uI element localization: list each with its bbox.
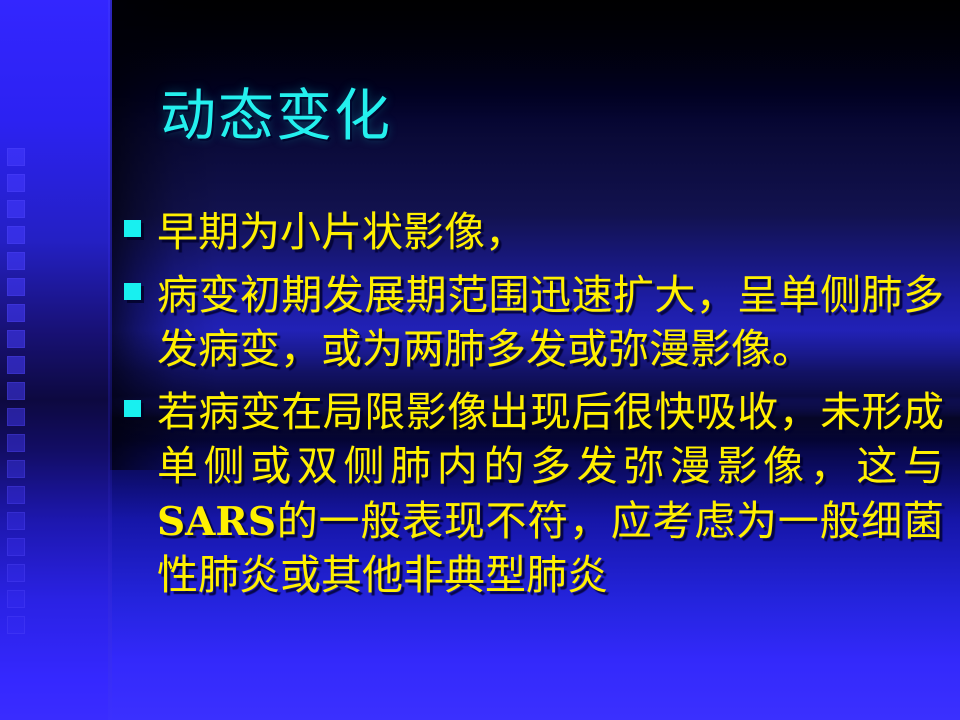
bullet-item-3-text-after: 的一般表现不符，应考虑为一般细菌性肺炎或其他非典型肺炎	[157, 497, 944, 600]
bullet-item-3-latin-term: SARS	[157, 499, 276, 545]
left-decorative-band	[0, 0, 110, 720]
square-bullet-icon	[124, 400, 141, 417]
bullet-item-1: 早期为小片状影像，	[124, 205, 944, 260]
slide-body: 早期为小片状影像， 病变初期发展期范围迅速扩大，呈单侧肺多发病变，或为两肺多发或…	[124, 205, 944, 611]
slide-title: 动态变化	[160, 88, 392, 147]
bullet-item-2: 病变初期发展期范围迅速扩大，呈单侧肺多发病变，或为两肺多发或弥漫影像。	[124, 268, 944, 377]
bullet-item-3-text: 若病变在局限影像出现后很快吸收，未形成单侧或双侧肺内的多发弥漫影像，这与SARS…	[157, 385, 944, 603]
bullet-item-2-text: 病变初期发展期范围迅速扩大，呈单侧肺多发病变，或为两肺多发或弥漫影像。	[157, 268, 944, 377]
bullet-item-3-text-before: 若病变在局限影像出现后很快吸收，未形成单侧或双侧肺内的多发弥漫影像，这与	[157, 388, 944, 491]
left-band-edge-line	[108, 0, 112, 720]
bullet-item-1-text: 早期为小片状影像，	[157, 205, 944, 260]
square-bullet-icon	[124, 283, 141, 300]
slide-canvas: 动态变化 早期为小片状影像， 病变初期发展期范围迅速扩大，呈单侧肺多发病变，或为…	[0, 0, 960, 720]
bullet-item-3: 若病变在局限影像出现后很快吸收，未形成单侧或双侧肺内的多发弥漫影像，这与SARS…	[124, 385, 944, 603]
square-bullet-icon	[124, 220, 141, 237]
